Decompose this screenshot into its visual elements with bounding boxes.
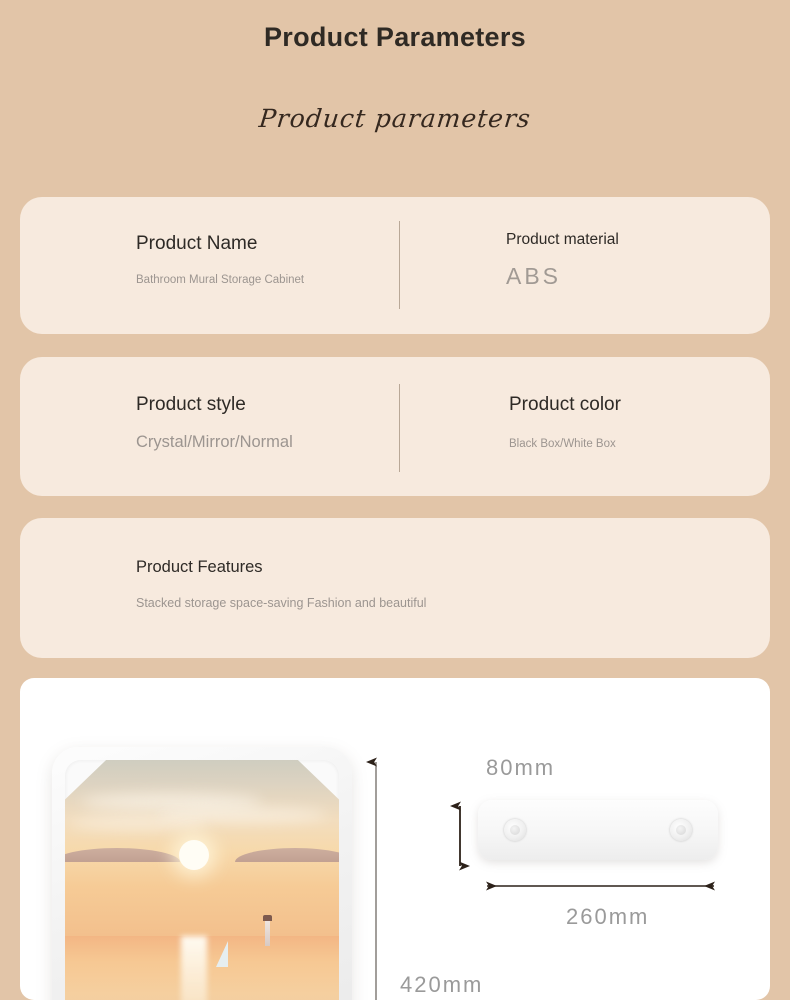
artwork-mountain <box>65 848 180 862</box>
param-product-name: Product Name Bathroom Mural Storage Cabi… <box>136 233 304 286</box>
param-product-style: Product style Crystal/Mirror/Normal <box>136 394 293 452</box>
param-label: Product color <box>509 394 621 416</box>
parameter-card-2: Product style Crystal/Mirror/Normal Prod… <box>20 357 770 496</box>
product-parameters-page: Product Parameters Product parameters Pr… <box>0 0 790 1000</box>
param-value: Bathroom Mural Storage Cabinet <box>136 274 304 286</box>
param-product-features: Product Features Stacked storage space-s… <box>136 558 426 610</box>
param-label: Product Name <box>136 233 304 255</box>
width-dimension-label: 260mm <box>566 904 649 930</box>
artwork-lighthouse <box>265 920 270 946</box>
mounting-screw-icon <box>670 819 692 841</box>
param-label: Product style <box>136 394 293 416</box>
mural-artwork <box>65 760 339 1000</box>
param-product-material: Product material ABS <box>506 231 619 290</box>
parameter-card-3: Product Features Stacked storage space-s… <box>20 518 770 658</box>
page-title: Product Parameters <box>0 22 790 53</box>
artwork-sky <box>65 760 339 936</box>
depth-dimension-label: 80mm <box>486 755 555 781</box>
artwork-sailboat <box>216 941 228 967</box>
param-value: ABS <box>506 263 619 290</box>
artwork-cloud <box>70 818 207 829</box>
card-divider <box>399 221 400 309</box>
height-dimension-label: 420mm <box>400 972 483 998</box>
param-value: Crystal/Mirror/Normal <box>136 433 293 452</box>
product-cabinet-image <box>52 747 352 1000</box>
artwork-mountain <box>235 848 339 862</box>
artwork-sun <box>179 840 209 870</box>
mounting-screw-icon <box>504 819 526 841</box>
page-subtitle-script: Product parameters <box>0 104 790 133</box>
parameter-card-1: Product Name Bathroom Mural Storage Cabi… <box>20 197 770 334</box>
param-product-color: Product color Black Box/White Box <box>509 394 621 450</box>
mounting-plate-image <box>478 800 718 860</box>
artwork-sun-reflection <box>181 936 207 1000</box>
cabinet-door-panel <box>65 760 339 1000</box>
card-divider <box>399 384 400 472</box>
param-label: Product material <box>506 231 619 249</box>
param-label: Product Features <box>136 558 426 577</box>
param-value: Stacked storage space-saving Fashion and… <box>136 596 426 610</box>
param-value: Black Box/White Box <box>509 438 621 450</box>
artwork-sea <box>65 936 339 1000</box>
